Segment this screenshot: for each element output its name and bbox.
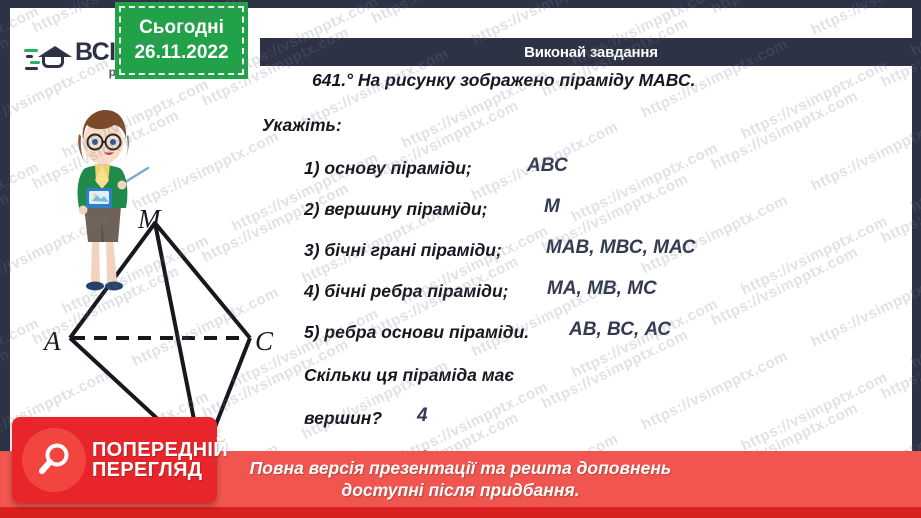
preview-badge: ПОПЕРЕДНІЙ ПЕРЕГЛЯД xyxy=(12,417,217,503)
task-item-2-answer: М xyxy=(544,196,560,218)
preview-badge-line2: ПЕРЕГЛЯД xyxy=(92,460,228,480)
graduation-cap-icon xyxy=(24,42,70,76)
task-item-5-answer: АВ, ВС, АС xyxy=(569,319,671,341)
task-item-4-label: 4) бічні ребра піраміди; xyxy=(304,281,509,302)
task-number-line: 641.° На рисунку зображено піраміду МАВС… xyxy=(312,70,696,91)
task-item-3-answer: МАВ, МВС, МАС xyxy=(546,237,696,259)
count-1-label: вершин? xyxy=(304,408,382,429)
date-badge-value: 26.11.2022 xyxy=(134,42,228,64)
header-title: Виконай завдання xyxy=(524,44,658,61)
task-prompt: Укажіть: xyxy=(262,115,342,136)
date-badge: Сьогодні 26.11.2022 xyxy=(115,2,248,79)
magnifier-icon xyxy=(22,428,86,492)
task-item-5-label: 5) ребра основи піраміди. xyxy=(304,322,529,343)
task-item-1-label: 1) основу піраміди; xyxy=(304,158,472,179)
banner-line1: Повна версія презентації та решта доповн… xyxy=(250,458,672,479)
task-item-2-label: 2) вершину піраміди; xyxy=(304,199,488,220)
preview-badge-line1: ПОПЕРЕДНІЙ xyxy=(92,440,228,460)
vertex-label-A: А xyxy=(44,326,61,357)
slide-frame: М А С xyxy=(0,0,921,518)
task-item-3-label: 3) бічні грані піраміди; xyxy=(304,240,502,261)
count-1-answer: 4 xyxy=(417,405,428,427)
bottom-strip xyxy=(0,507,921,518)
task-item-1-answer: АВС xyxy=(527,155,568,177)
banner-line2: доступні після придбання. xyxy=(341,480,579,501)
vertex-label-C: С xyxy=(255,326,273,357)
header-bar: Виконай завдання xyxy=(260,38,921,66)
question-intro: Скільки ця піраміда має xyxy=(304,365,514,386)
teacher-illustration xyxy=(48,106,158,301)
date-badge-label: Сьогодні xyxy=(139,17,224,39)
task-item-4-answer: МА, МВ, МС xyxy=(547,278,657,300)
